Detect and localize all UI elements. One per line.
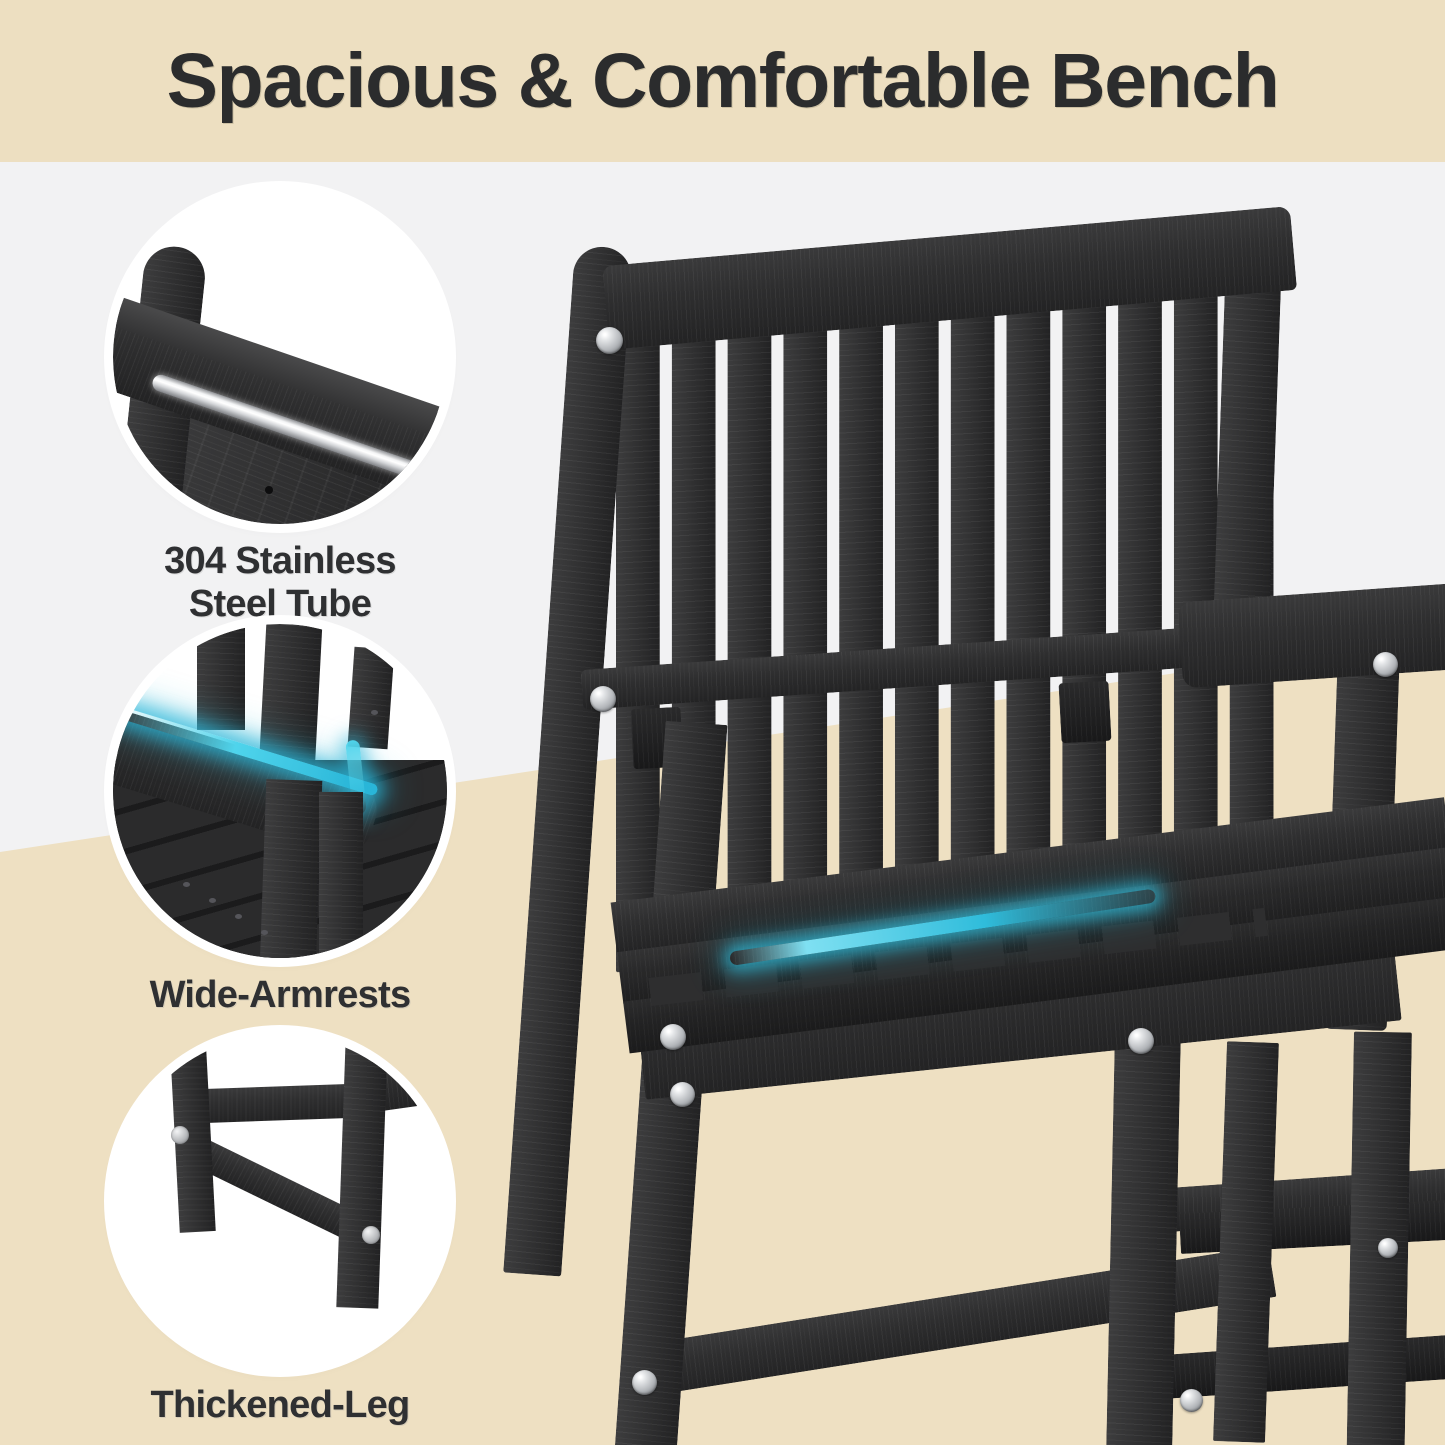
bolt-head-icon [1373, 652, 1398, 677]
armrest-bracket-right [1058, 681, 1111, 744]
product-stage: 304 Stainless Steel Tube [0, 162, 1445, 1445]
callout-image-stainless-tube [113, 190, 447, 524]
callout-image-bubble [113, 1034, 447, 1368]
callout-stainless-tube[interactable]: 304 Stainless Steel Tube [70, 190, 490, 625]
bolt-head-icon [1128, 1028, 1154, 1054]
callout-wide-armrests[interactable]: Wide-Armrests [70, 624, 490, 1017]
callout-label: 304 Stainless Steel Tube [70, 540, 490, 625]
bolt-head-icon [670, 1082, 695, 1107]
header-band: Spacious & Comfortable Bench [0, 0, 1445, 162]
callout-label: Thickened-Leg [70, 1384, 490, 1427]
detail-screw-hole [265, 486, 273, 494]
callout-image-thickened-leg [113, 1034, 447, 1368]
backrest-slat [783, 312, 827, 958]
bolt-head-icon [660, 1024, 686, 1050]
feature-callout-column: 304 Stainless Steel Tube [70, 172, 490, 1442]
callout-label-line2: Steel Tube [70, 583, 490, 626]
backrest-slat [895, 302, 939, 948]
backrest-slat [1007, 292, 1051, 938]
bolt-head-icon [1378, 1238, 1398, 1258]
callout-label-line1: Wide-Armrests [70, 974, 490, 1017]
callout-label: Wide-Armrests [70, 974, 490, 1017]
backrest-slat [616, 326, 660, 972]
back-post-near [503, 245, 633, 1277]
backrest-slat [728, 316, 772, 962]
backrest-slat [1118, 282, 1162, 928]
callout-image-bubble [113, 190, 447, 524]
callout-label-line1: 304 Stainless [70, 540, 490, 583]
backrest-slat [1062, 287, 1106, 933]
bolt-head-icon [171, 1126, 189, 1144]
backrest-slat [951, 297, 995, 943]
callout-label-line1: Thickened-Leg [70, 1384, 490, 1427]
leg-front-right [1105, 1021, 1181, 1445]
backrest-slat [839, 307, 883, 953]
leg-back-right [1346, 1032, 1412, 1445]
bolt-head-icon [596, 327, 623, 354]
callout-image-bubble [113, 624, 447, 958]
bolt-head-icon [362, 1226, 380, 1244]
bolt-head-icon [590, 686, 616, 712]
bolt-head-icon [1180, 1389, 1203, 1412]
bench-product-image [520, 162, 1445, 1445]
bolt-head-icon [632, 1370, 657, 1395]
detail-screw-group [113, 624, 447, 958]
callout-image-wide-armrests [113, 624, 447, 958]
callout-thickened-leg[interactable]: Thickened-Leg [70, 1034, 490, 1427]
detail-leg-right [336, 1037, 387, 1308]
infographic-page: Spacious & Comfortable Bench [0, 0, 1445, 1445]
page-title: Spacious & Comfortable Bench [0, 0, 1445, 162]
